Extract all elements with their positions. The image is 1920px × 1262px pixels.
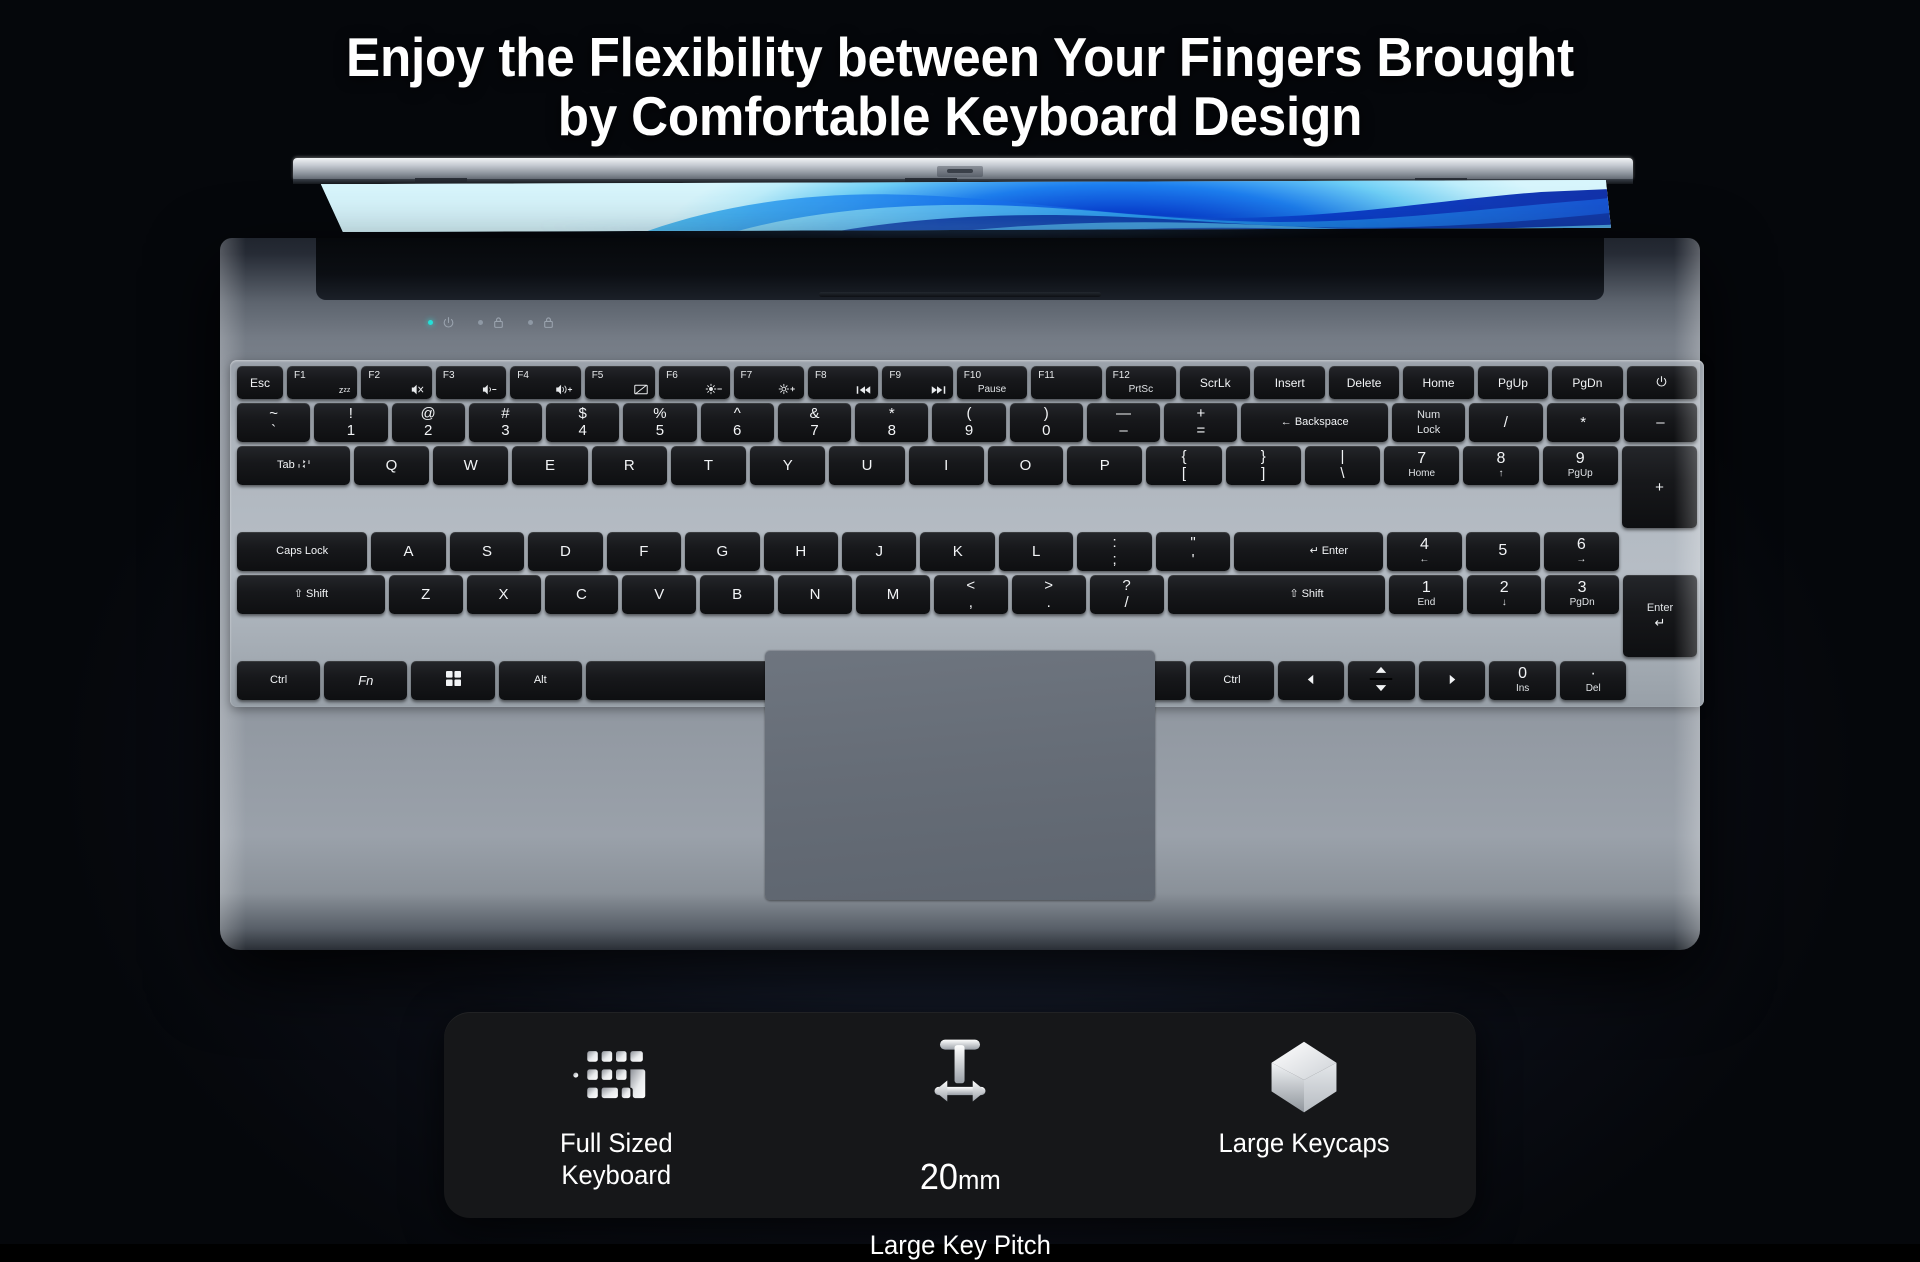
enter-arrow-icon: ↵ (1655, 615, 1666, 631)
key-comma[interactable]: < , (934, 575, 1008, 614)
key-numlock[interactable]: Num Lock (1392, 403, 1465, 442)
key-shift-right[interactable]: ⇧ Shift (1168, 575, 1386, 614)
key-pitch-unit: mm (958, 1165, 1001, 1195)
key-e[interactable]: E (512, 446, 587, 485)
key-numpad-8[interactable]: 8 ↑ (1463, 446, 1538, 485)
next-track-icon (931, 385, 946, 395)
key-ctrl-left[interactable]: Ctrl (237, 661, 320, 700)
key-4[interactable]: $ 4 (546, 403, 619, 442)
key-w[interactable]: W (433, 446, 508, 485)
key-numpad-4[interactable]: 4 ← (1387, 532, 1461, 571)
key-l[interactable]: L (999, 532, 1073, 571)
arrow-left-icon (1305, 672, 1316, 689)
feature-key-pitch: 20mm Large Key Pitch (810, 1036, 1110, 1194)
key-f1[interactable]: F1 zzz (287, 366, 357, 399)
key-numpad-2[interactable]: 2 ↓ (1467, 575, 1541, 614)
key-f5[interactable]: F5 (585, 366, 655, 399)
key-f12[interactable]: F12 PrtSc (1106, 366, 1176, 399)
brightness-down-icon (705, 383, 723, 395)
key-numpad-3[interactable]: 3 PgDn (1545, 575, 1619, 614)
key-shift-left[interactable]: ⇧ Shift (237, 575, 385, 614)
key-numpad-7[interactable]: 7 Home (1384, 446, 1459, 485)
key-numpad-1[interactable]: 1 End (1389, 575, 1463, 614)
key-o[interactable]: O (988, 446, 1063, 485)
key-8[interactable]: * 8 (855, 403, 928, 442)
trackpad[interactable] (765, 650, 1155, 900)
key-a[interactable]: A (371, 532, 445, 571)
key-n[interactable]: N (778, 575, 852, 614)
key-capslock[interactable]: Caps Lock (237, 532, 367, 571)
key-enter[interactable]: ↵ Enter (1234, 532, 1383, 571)
arrow-up-down-icon (1368, 664, 1394, 698)
key-period[interactable]: > . (1012, 575, 1086, 614)
key-fn[interactable]: Fn (324, 661, 407, 700)
key-insert[interactable]: Insert (1254, 366, 1324, 399)
key-x[interactable]: X (467, 575, 541, 614)
previous-track-icon (856, 385, 871, 395)
key-s[interactable]: S (450, 532, 524, 571)
key-scrlk[interactable]: ScrLk (1180, 366, 1250, 399)
key-0[interactable]: ) 0 (1010, 403, 1083, 442)
key-f7[interactable]: F7 (734, 366, 804, 399)
key-f9[interactable]: F9 (882, 366, 952, 399)
lock-icon (542, 316, 555, 329)
keyboard-row-qwerty: Tab Q W E R T Y U I O P (237, 446, 1697, 528)
hinge-recess (316, 238, 1604, 300)
arrow-right-icon (1447, 672, 1458, 689)
key-equals[interactable]: + = (1164, 403, 1237, 442)
key-k[interactable]: K (920, 532, 994, 571)
key-esc[interactable]: Esc (237, 366, 283, 399)
key-u[interactable]: U (829, 446, 904, 485)
key-arrow-left[interactable] (1278, 661, 1345, 700)
keycap-3d-icon (1258, 1036, 1350, 1120)
key-f[interactable]: F (607, 532, 681, 571)
key-z[interactable]: Z (389, 575, 463, 614)
brightness-up-icon (778, 383, 797, 395)
key-backslash[interactable]: | \ (1305, 446, 1380, 485)
status-indicators (428, 316, 555, 329)
key-numpad-multiply[interactable]: * (1547, 403, 1620, 442)
power-led-dot (428, 320, 433, 325)
key-numpad-enter[interactable]: Enter ↵ (1623, 575, 1697, 657)
key-g[interactable]: G (685, 532, 759, 571)
laptop-screen (317, 180, 1611, 232)
feature-label: Large Keycaps (1218, 1128, 1389, 1160)
mute-icon (411, 384, 425, 395)
full-keyboard-icon (570, 1036, 662, 1120)
power-icon (442, 316, 455, 329)
key-bracket-left[interactable]: { [ (1146, 446, 1221, 485)
key-windows[interactable] (411, 661, 494, 700)
key-numpad-decimal[interactable]: · Del (1560, 661, 1627, 700)
lock-icon (492, 316, 505, 329)
hinge-bar (819, 292, 1101, 297)
key-pitch-icon (916, 1036, 1004, 1116)
key-r[interactable]: R (592, 446, 667, 485)
keyboard-row-numbers: ~ ` ! 1 @ 2 # 3 $ 4 % (237, 403, 1697, 442)
key-minus[interactable]: — – (1087, 403, 1160, 442)
key-p[interactable]: P (1067, 446, 1142, 485)
key-delete[interactable]: Delete (1329, 366, 1399, 399)
key-f11[interactable]: F11 (1031, 366, 1101, 399)
feature-full-sized-keyboard: Full Sized Keyboard (466, 1036, 766, 1194)
volume-up-icon (555, 384, 574, 395)
key-numpad-divide[interactable]: / (1469, 403, 1542, 442)
key-d[interactable]: D (528, 532, 602, 571)
poster-stage: Enjoy the Flexibility between Your Finge… (0, 0, 1920, 1244)
key-arrow-up-down[interactable] (1348, 661, 1415, 700)
windows-icon (446, 671, 461, 690)
webcam (937, 166, 983, 177)
key-f3[interactable]: F3 (436, 366, 506, 399)
key-3[interactable]: # 3 (469, 403, 542, 442)
key-c[interactable]: C (545, 575, 619, 614)
key-numpad-9[interactable]: 9 PgUp (1543, 446, 1618, 485)
key-v[interactable]: V (622, 575, 696, 614)
key-j[interactable]: J (842, 532, 916, 571)
key-y[interactable]: Y (750, 446, 825, 485)
key-q[interactable]: Q (354, 446, 429, 485)
key-f10[interactable]: F10 Pause (957, 366, 1027, 399)
key-7[interactable]: & 7 (778, 403, 851, 442)
keyboard-row-home: Caps Lock A S D F G H J K L : ; " ' (237, 532, 1697, 571)
feature-bar: Full Sized Keyboard (444, 1012, 1476, 1218)
key-6[interactable]: ^ 6 (701, 403, 774, 442)
key-numpad-5[interactable]: 5 (1466, 532, 1540, 571)
key-pgdn[interactable]: PgDn (1552, 366, 1622, 399)
key-2[interactable]: @ 2 (392, 403, 465, 442)
tab-arrows-icon (298, 459, 310, 472)
key-quote[interactable]: " ' (1156, 532, 1230, 571)
keyboard-row-bottom-letters: ⇧ Shift Z X C V B N M < , > . ? (237, 575, 1697, 657)
key-backtick[interactable]: ~ ` (237, 403, 310, 442)
key-m[interactable]: M (856, 575, 930, 614)
key-9[interactable]: ( 9 (932, 403, 1005, 442)
sleep-icon: zzz (339, 386, 351, 395)
key-t[interactable]: T (671, 446, 746, 485)
key-backspace[interactable]: ← Backspace (1241, 403, 1388, 442)
key-1[interactable]: ! 1 (314, 403, 387, 442)
key-f6[interactable]: F6 (659, 366, 729, 399)
key-i[interactable]: I (909, 446, 984, 485)
key-h[interactable]: H (764, 532, 838, 571)
windows-wallpaper-swirl-icon (317, 180, 1611, 232)
display-toggle-icon (634, 384, 648, 395)
key-alt-left[interactable]: Alt (499, 661, 582, 700)
key-pitch-value: 20 (920, 1156, 958, 1197)
laptop-deck: Esc F1 zzz F2 F3 (220, 238, 1700, 950)
key-numpad-6[interactable]: 6 → (1544, 532, 1618, 571)
key-pgup[interactable]: PgUp (1478, 366, 1548, 399)
keyboard-row-function: Esc F1 zzz F2 F3 (237, 366, 1697, 399)
page-title: Enjoy the Flexibility between Your Finge… (67, 28, 1853, 146)
key-numpad-subtract[interactable]: – (1624, 403, 1697, 442)
key-bracket-right[interactable]: } ] (1226, 446, 1301, 485)
key-b[interactable]: B (700, 575, 774, 614)
screen-wallpaper (317, 180, 1611, 232)
laptop-illustration: Esc F1 zzz F2 F3 (220, 150, 1700, 950)
feature-label: Large Key Pitch (869, 1230, 1050, 1260)
key-home[interactable]: Home (1403, 366, 1473, 399)
key-slash[interactable]: ? / (1090, 575, 1164, 614)
key-numpad-0[interactable]: 0 Ins (1489, 661, 1556, 700)
key-f8[interactable]: F8 (808, 366, 878, 399)
key-numpad-add[interactable]: + (1622, 446, 1697, 528)
feature-large-keycaps: Large Keycaps (1154, 1036, 1454, 1194)
feature-label: Full Sized Keyboard (560, 1128, 673, 1192)
num-lock-led-dot (528, 320, 533, 325)
laptop-lid (265, 150, 1655, 230)
volume-down-icon (482, 384, 499, 395)
key-power[interactable] (1627, 366, 1697, 399)
power-button-icon (1655, 375, 1668, 391)
key-semicolon[interactable]: : ; (1077, 532, 1151, 571)
key-f4[interactable]: F4 (510, 366, 580, 399)
key-tab[interactable]: Tab (237, 446, 350, 485)
key-ctrl-right[interactable]: Ctrl (1190, 661, 1273, 700)
key-5[interactable]: % 5 (623, 403, 696, 442)
caps-lock-led-dot (478, 320, 483, 325)
key-arrow-right[interactable] (1419, 661, 1486, 700)
key-f2[interactable]: F2 (361, 366, 431, 399)
